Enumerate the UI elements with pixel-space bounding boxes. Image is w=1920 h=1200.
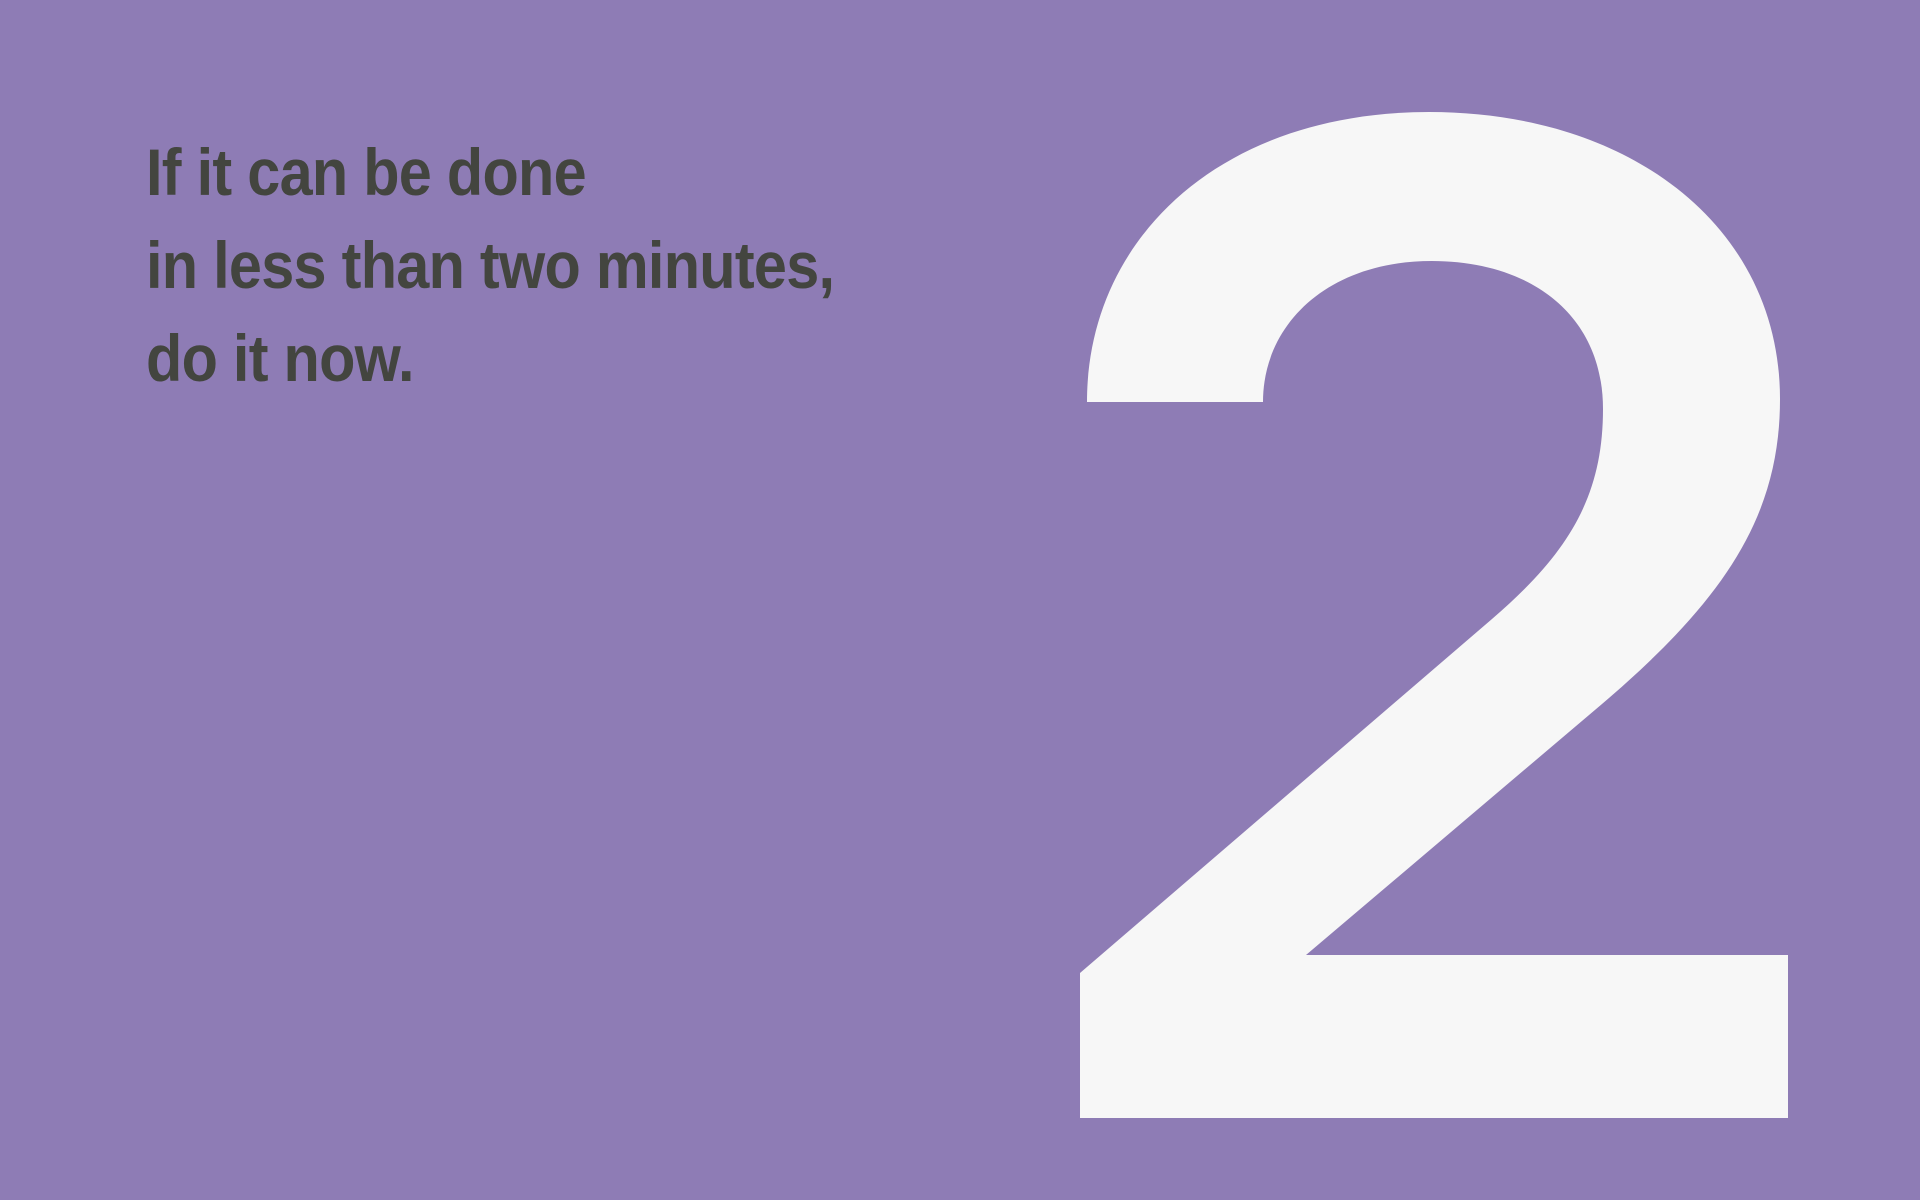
slide-canvas: If it can be done in less than two minut… (0, 0, 1920, 1200)
quote-line-3: do it now. (146, 312, 1046, 405)
quote-line-2: in less than two minutes, (146, 219, 1046, 312)
numeral-graphic: 2 (1080, 110, 1800, 1120)
quote-block: If it can be done in less than two minut… (146, 126, 1146, 405)
quote-line-1: If it can be done (146, 126, 1046, 219)
numeral-two-glyph (1080, 112, 1788, 1118)
